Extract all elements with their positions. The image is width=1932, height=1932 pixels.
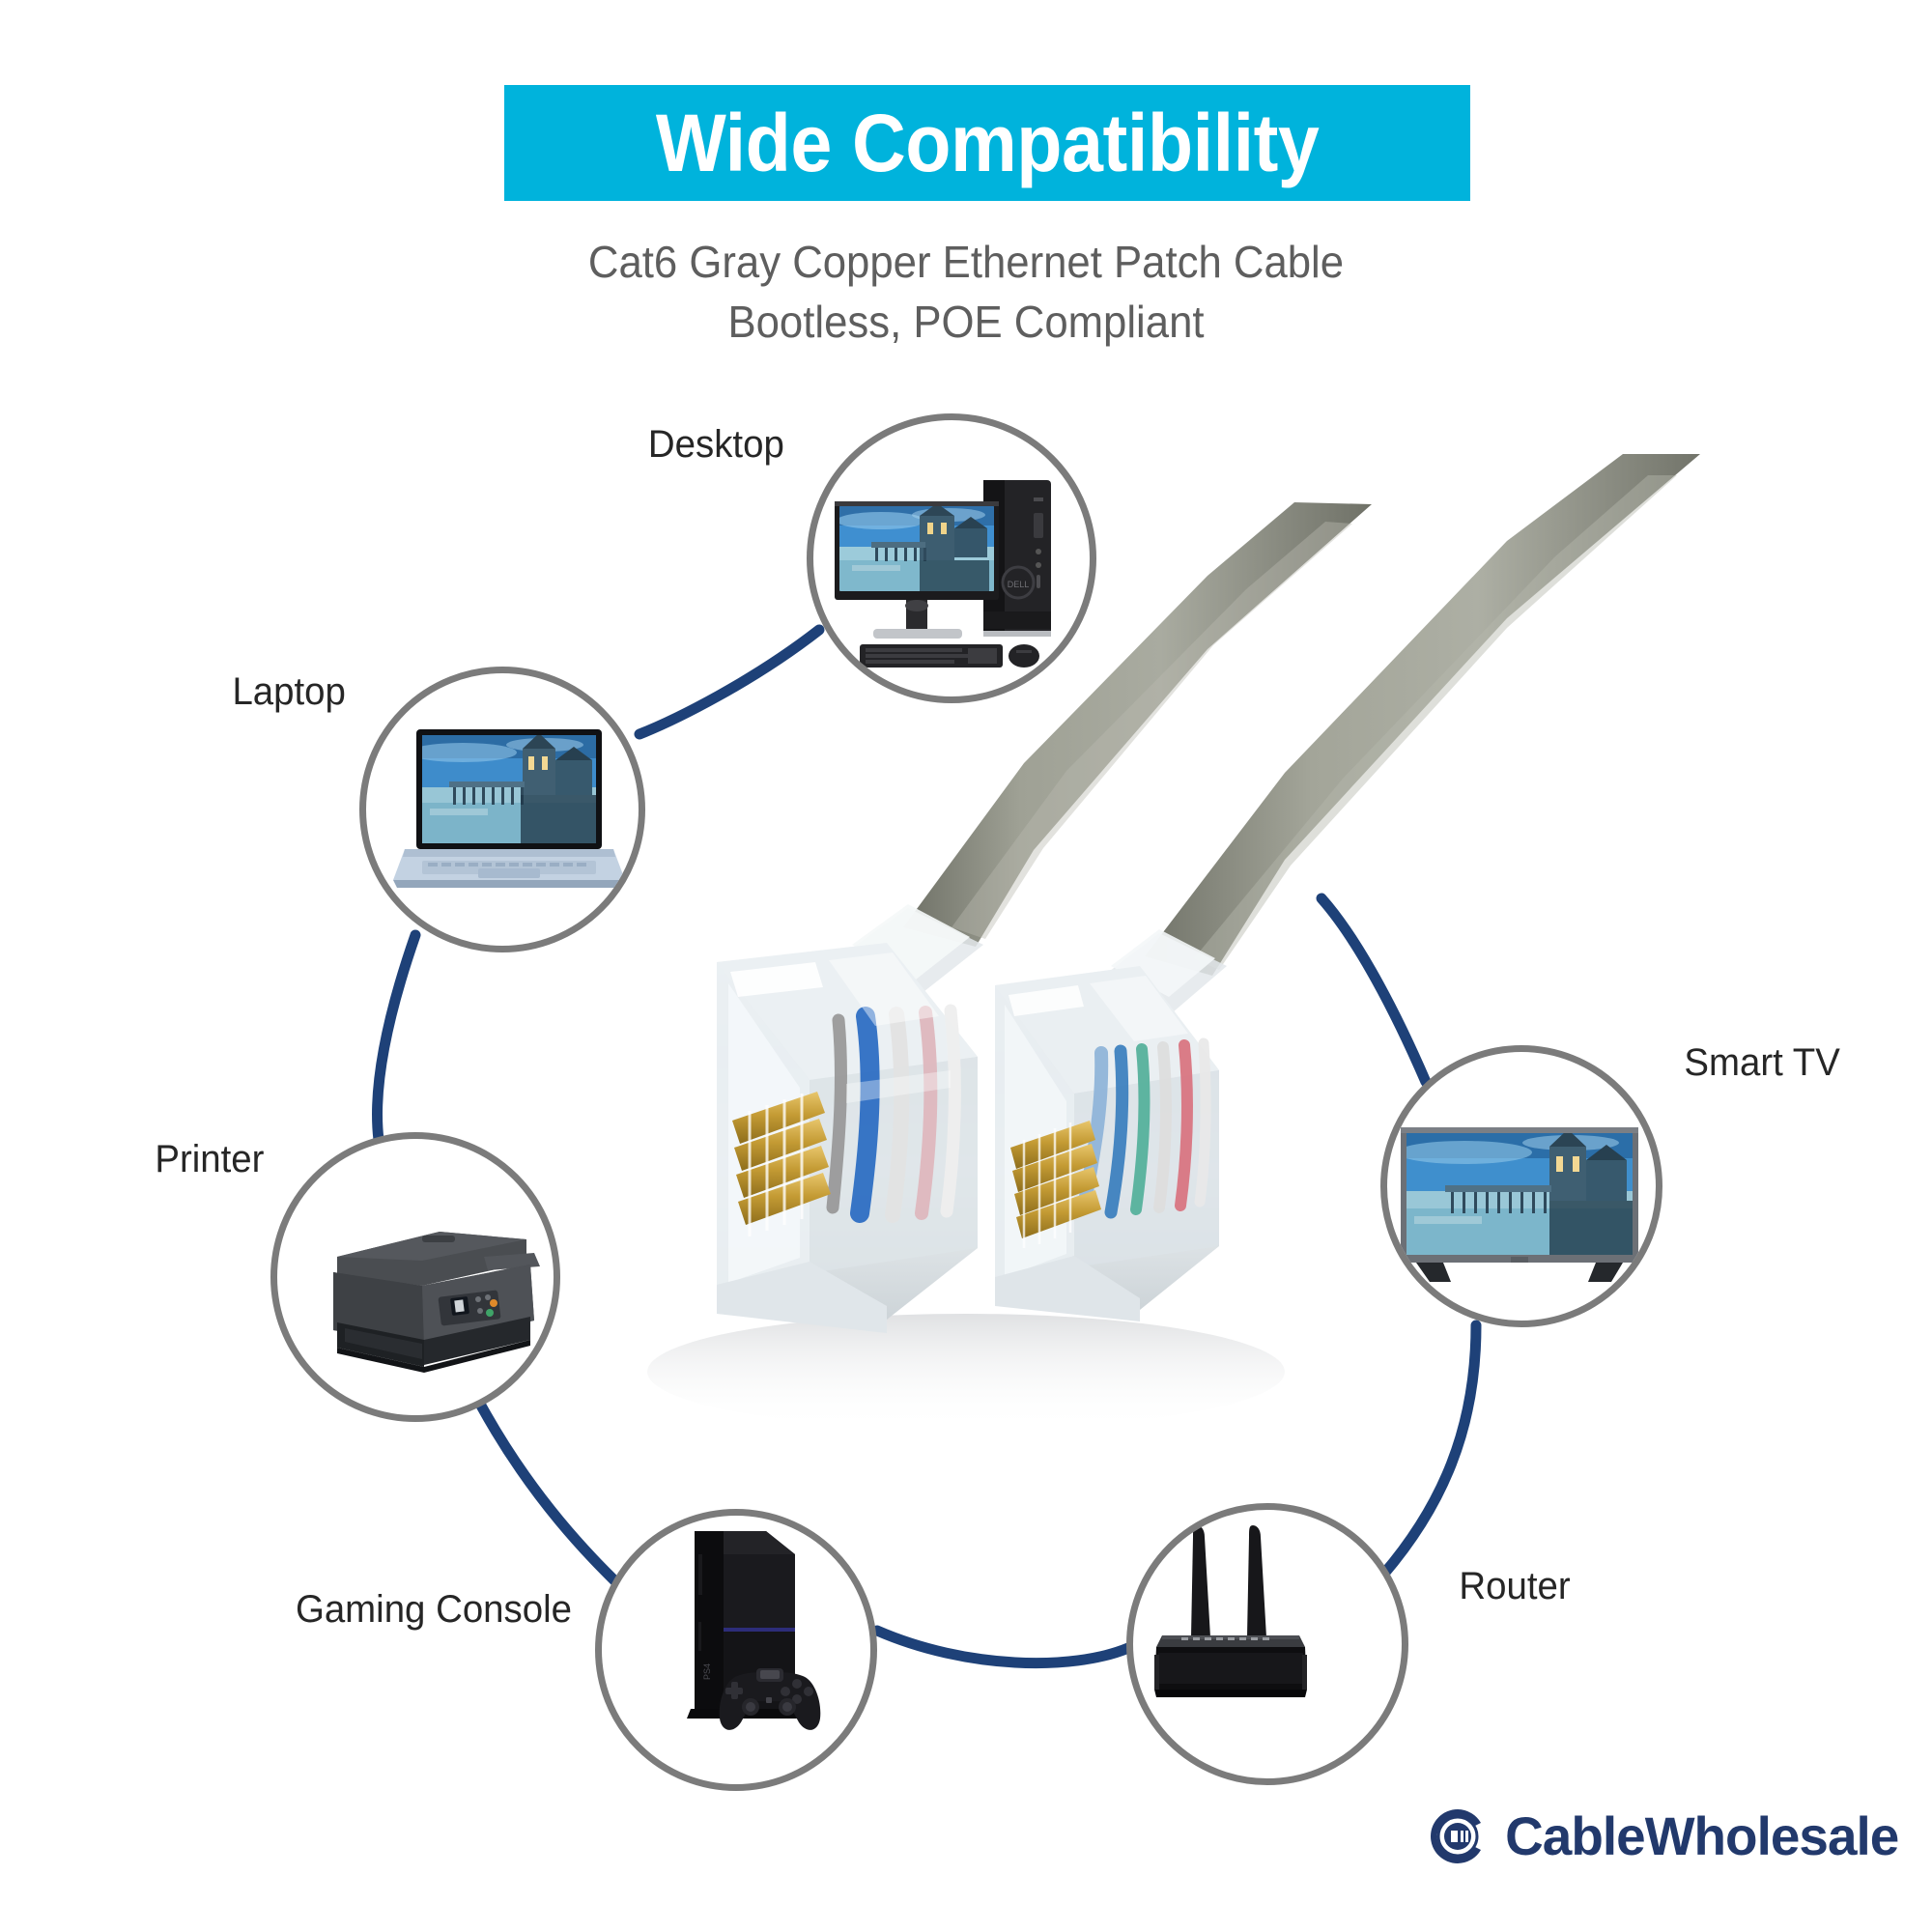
cablewholesale-c-mark-icon <box>1428 1806 1488 1866</box>
desktop-computer-icon: DELL <box>813 420 1090 696</box>
infographic-canvas: Wide Compatibility Cat6 Gray Copper Ethe… <box>0 0 1932 1932</box>
printer-icon <box>277 1139 554 1415</box>
label-desktop: Desktop <box>648 423 784 467</box>
brand-name: CableWholesale <box>1505 1804 1898 1867</box>
game-console-icon: PS4 <box>602 1516 870 1784</box>
wifi-router-icon <box>1133 1510 1402 1778</box>
node-router[interactable] <box>1126 1503 1408 1785</box>
node-laptop[interactable] <box>359 667 645 952</box>
label-router: Router <box>1459 1565 1570 1608</box>
subtitle-line-1: Cat6 Gray Copper Ethernet Patch Cable <box>48 232 1884 292</box>
header-banner: Wide Compatibility <box>504 85 1470 201</box>
node-desktop[interactable]: DELL <box>807 413 1096 703</box>
brand-logo[interactable]: CableWholesale <box>1428 1804 1902 1867</box>
label-gaming-console: Gaming Console <box>296 1588 572 1632</box>
node-printer[interactable] <box>270 1132 560 1422</box>
link-router-smarttv <box>1383 1325 1476 1575</box>
television-icon <box>1387 1052 1656 1321</box>
link-smarttv-cable <box>1321 898 1426 1082</box>
link-desktop-laptop <box>639 630 819 734</box>
link-console-router <box>877 1631 1128 1663</box>
page-title: Wide Compatibility <box>656 102 1320 184</box>
label-laptop: Laptop <box>232 670 345 714</box>
svg-text:DELL: DELL <box>1008 580 1030 589</box>
svg-text:PS4: PS4 <box>702 1663 712 1680</box>
node-smart-tv[interactable] <box>1380 1045 1662 1327</box>
laptop-icon <box>366 673 639 946</box>
label-smart-tv: Smart TV <box>1684 1041 1839 1085</box>
link-laptop-printer <box>378 935 415 1140</box>
link-printer-console <box>481 1406 626 1592</box>
product-subtitle: Cat6 Gray Copper Ethernet Patch Cable Bo… <box>48 232 1884 352</box>
label-printer: Printer <box>155 1138 264 1181</box>
node-gaming-console[interactable]: PS4 <box>595 1509 877 1791</box>
subtitle-line-2: Bootless, POE Compliant <box>48 292 1884 352</box>
